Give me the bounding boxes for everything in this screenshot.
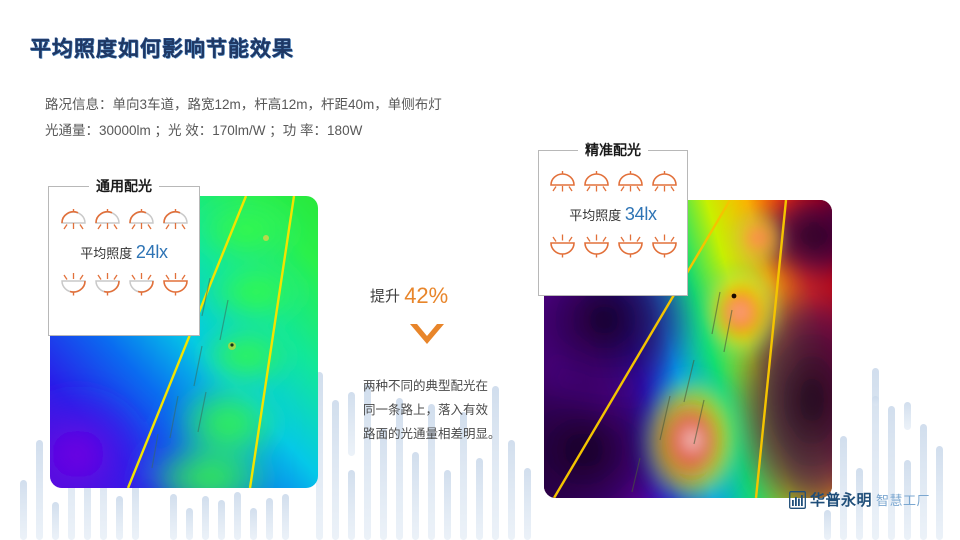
legend-card-general-title: 通用配光 <box>89 176 159 196</box>
road-info-line-2: 光通量：30000lm ；光 效：170lm/W ；功 率：180W <box>45 118 442 144</box>
lamp-up-icon <box>615 233 646 260</box>
page-title: 平均照度如何影响节能效果 <box>30 33 294 63</box>
lamp-up-icon <box>547 233 578 260</box>
caption-line-3: 路面的光通量相差明显。 <box>363 422 543 446</box>
boost-label: 提升 <box>370 288 400 305</box>
lamp-down-icon <box>649 168 680 195</box>
road-info-block: 路况信息：单向3车道，路宽12m，杆高12m，杆距40m，单侧布灯 光通量：30… <box>45 92 442 144</box>
lamp-up-icon <box>92 271 123 298</box>
avg-illuminance-label: 平均照度 <box>80 246 132 261</box>
legend-card-precise: 精准配光 <box>538 150 688 296</box>
avg-illuminance-value: 24lx <box>136 242 168 262</box>
brand-mark-icon <box>789 491 806 509</box>
lamp-down-icon <box>547 168 578 195</box>
brand-name-main: 华普永明 <box>810 489 872 510</box>
legend-card-general: 通用配光 <box>48 186 200 336</box>
legend-card-precise-title: 精准配光 <box>578 140 648 160</box>
road-info-line-1: 路况信息：单向3车道，路宽12m，杆高12m，杆距40m，单侧布灯 <box>45 92 442 118</box>
explanation-caption: 两种不同的典型配光在 同一条路上，落入有效 路面的光通量相差明显。 <box>363 374 543 446</box>
caption-line-2: 同一条路上，落入有效 <box>363 398 543 422</box>
lamp-down-icon <box>58 206 89 233</box>
avg-illuminance-general: 平均照度 24lx <box>49 242 199 263</box>
lamp-down-icon <box>160 206 191 233</box>
caption-line-1: 两种不同的典型配光在 <box>363 374 543 398</box>
lamp-down-icon <box>126 206 157 233</box>
avg-illuminance-label: 平均照度 <box>569 208 621 223</box>
lamp-row-top-precise <box>539 168 687 195</box>
lamp-down-icon <box>92 206 123 233</box>
lamp-row-bottom-precise <box>539 233 687 260</box>
lamp-up-icon <box>160 271 191 298</box>
avg-illuminance-precise: 平均照度 34lx <box>539 204 687 225</box>
boost-statement: 提升 42% <box>370 283 448 309</box>
boost-value: 42% <box>404 283 448 308</box>
lamp-row-top-general <box>49 206 199 233</box>
lamp-up-icon <box>581 233 612 260</box>
lamp-down-icon <box>615 168 646 195</box>
lamp-up-icon <box>126 271 157 298</box>
brand-name-sub: 智慧工厂 <box>876 490 930 509</box>
chevron-down-icon <box>408 322 446 348</box>
lamp-up-icon <box>649 233 680 260</box>
brand-logo: 华普永明 智慧工厂 <box>789 489 930 510</box>
lamp-down-icon <box>581 168 612 195</box>
lamp-row-bottom-general <box>49 271 199 298</box>
lamp-up-icon <box>58 271 89 298</box>
avg-illuminance-value: 34lx <box>625 204 657 224</box>
